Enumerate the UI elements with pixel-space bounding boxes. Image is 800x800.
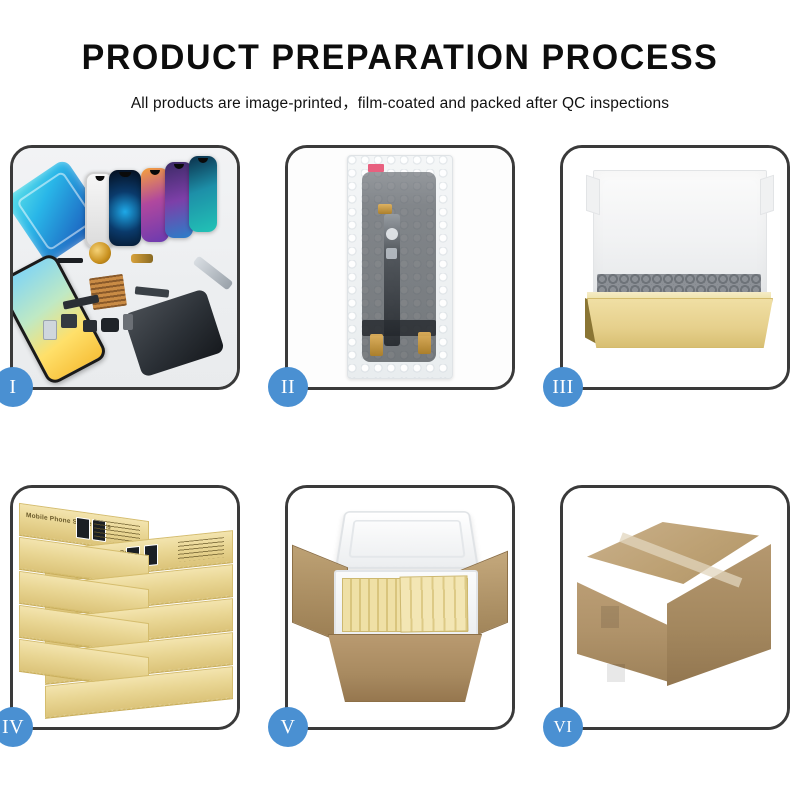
step-5-image xyxy=(288,488,512,727)
process-step-1: I xyxy=(10,145,240,390)
carton-seam-icon xyxy=(601,606,619,628)
step-badge-2: II xyxy=(268,367,308,407)
step-1-image xyxy=(13,148,237,387)
box-spec-lines xyxy=(178,537,224,562)
process-step-4: Mobile Phone Spare Parts Mobile Phone Sp… xyxy=(10,485,240,730)
part-icon xyxy=(123,314,133,330)
phone-back-housing-icon xyxy=(123,288,225,377)
step-badge-5: V xyxy=(268,707,308,747)
screw-tray-icon xyxy=(89,274,127,310)
part-icon xyxy=(61,314,77,328)
sensor-module-icon xyxy=(386,248,397,259)
part-icon xyxy=(83,320,97,332)
phone-thumb-icon xyxy=(76,517,90,540)
page-subtitle: All products are image-printed，film-coat… xyxy=(0,91,800,113)
phone-screen-icon xyxy=(189,156,217,232)
part-icon xyxy=(101,318,119,332)
page-title: PRODUCT PREPARATION PROCESS xyxy=(12,40,788,75)
packed-boxes-icon xyxy=(400,575,469,632)
tweezers-icon xyxy=(193,256,234,291)
process-step-grid: I II xyxy=(10,145,790,730)
gold-contact-icon xyxy=(378,204,392,214)
step-numeral: II xyxy=(281,376,295,399)
part-icon xyxy=(57,258,83,263)
page-header: PRODUCT PREPARATION PROCESS All products… xyxy=(0,0,800,113)
phone-screen-icon xyxy=(109,170,141,246)
step-numeral: IV xyxy=(2,716,24,739)
kraft-box-front-icon xyxy=(587,298,773,348)
box-stack-icon: Mobile Phone Spare Parts Mobile Phone Sp… xyxy=(19,512,237,708)
step-numeral: I xyxy=(9,376,16,399)
step-numeral: III xyxy=(552,376,573,399)
step-4-image: Mobile Phone Spare Parts Mobile Phone Sp… xyxy=(13,488,237,727)
camera-module-icon xyxy=(386,228,398,240)
step-numeral: VI xyxy=(554,717,573,737)
step-numeral: V xyxy=(281,716,296,739)
flex-cable-icon xyxy=(135,286,170,298)
step-badge-4: IV xyxy=(0,707,33,747)
step-3-image xyxy=(563,148,787,387)
gold-contact-icon xyxy=(418,332,431,354)
step-6-image xyxy=(563,488,787,727)
process-step-6: VI xyxy=(560,485,790,730)
qc-sticker-icon xyxy=(368,164,384,172)
carton-front-icon xyxy=(328,634,482,702)
bubble-wrap-bag-icon xyxy=(347,155,453,379)
step-2-image xyxy=(288,148,512,387)
gold-contact-icon xyxy=(370,334,383,356)
carton-seam-icon xyxy=(607,664,625,682)
process-step-5: V xyxy=(285,485,515,730)
product-preparation-page: PRODUCT PREPARATION PROCESS All products… xyxy=(0,0,800,800)
sim-tray-icon xyxy=(43,320,57,340)
flex-cable-icon xyxy=(131,254,153,263)
foam-lid-icon xyxy=(335,511,479,569)
step-badge-1: I xyxy=(0,367,33,407)
process-step-3: III xyxy=(560,145,790,390)
process-step-2: II xyxy=(285,145,515,390)
step-badge-6: VI xyxy=(543,707,583,747)
step-badge-3: III xyxy=(543,367,583,407)
